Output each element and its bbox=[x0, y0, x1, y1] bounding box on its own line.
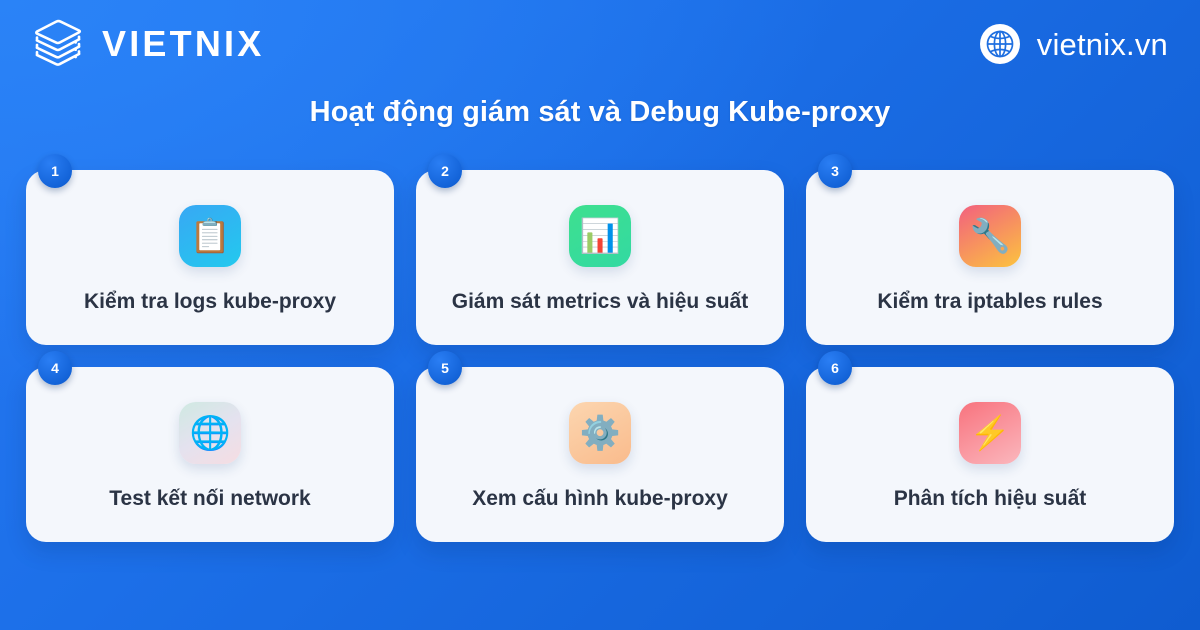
globe-icon bbox=[979, 23, 1021, 65]
brand-name: VIETNIX bbox=[102, 26, 264, 62]
site-lockup[interactable]: vietnix.vn bbox=[979, 23, 1168, 65]
infographic-poster: VIETNIX vietnix.vn Hoạt động giám sát và… bbox=[0, 0, 1200, 630]
step-number-badge: 5 bbox=[428, 351, 462, 385]
step-number-badge: 6 bbox=[818, 351, 852, 385]
steps-grid: 1 📋 Kiểm tra logs kube-proxy 2 📊 Giám sá… bbox=[26, 170, 1174, 542]
step-label: Phân tích hiệu suất bbox=[894, 486, 1087, 511]
step-card[interactable]: 5 ⚙️ Xem cấu hình kube-proxy bbox=[416, 367, 784, 542]
step-number-badge: 3 bbox=[818, 154, 852, 188]
page-title: Hoạt động giám sát và Debug Kube-proxy bbox=[0, 96, 1200, 129]
step-label: Kiểm tra logs kube-proxy bbox=[84, 289, 336, 314]
gear-icon: ⚙️ bbox=[569, 402, 631, 464]
step-card[interactable]: 6 ⚡ Phân tích hiệu suất bbox=[806, 367, 1174, 542]
step-card[interactable]: 2 📊 Giám sát metrics và hiệu suất bbox=[416, 170, 784, 345]
step-number-badge: 2 bbox=[428, 154, 462, 188]
brand-lockup: VIETNIX bbox=[30, 16, 264, 72]
bar-chart-icon: 📊 bbox=[569, 205, 631, 267]
step-label: Kiểm tra iptables rules bbox=[877, 289, 1102, 314]
step-number-badge: 4 bbox=[38, 351, 72, 385]
globe-network-icon: 🌐 bbox=[179, 402, 241, 464]
step-label: Giám sát metrics và hiệu suất bbox=[452, 289, 748, 314]
poster-header: VIETNIX vietnix.vn bbox=[0, 0, 1200, 88]
step-label: Xem cấu hình kube-proxy bbox=[472, 486, 728, 511]
step-card[interactable]: 4 🌐 Test kết nối network bbox=[26, 367, 394, 542]
step-card[interactable]: 1 📋 Kiểm tra logs kube-proxy bbox=[26, 170, 394, 345]
clipboard-icon: 📋 bbox=[179, 205, 241, 267]
step-number-badge: 1 bbox=[38, 154, 72, 188]
wrench-icon: 🔧 bbox=[959, 205, 1021, 267]
lightning-bolt-icon: ⚡ bbox=[959, 402, 1021, 464]
step-label: Test kết nối network bbox=[109, 486, 310, 511]
step-card[interactable]: 3 🔧 Kiểm tra iptables rules bbox=[806, 170, 1174, 345]
stacked-layers-logo-icon bbox=[30, 16, 86, 72]
site-url-label: vietnix.vn bbox=[1037, 29, 1168, 60]
